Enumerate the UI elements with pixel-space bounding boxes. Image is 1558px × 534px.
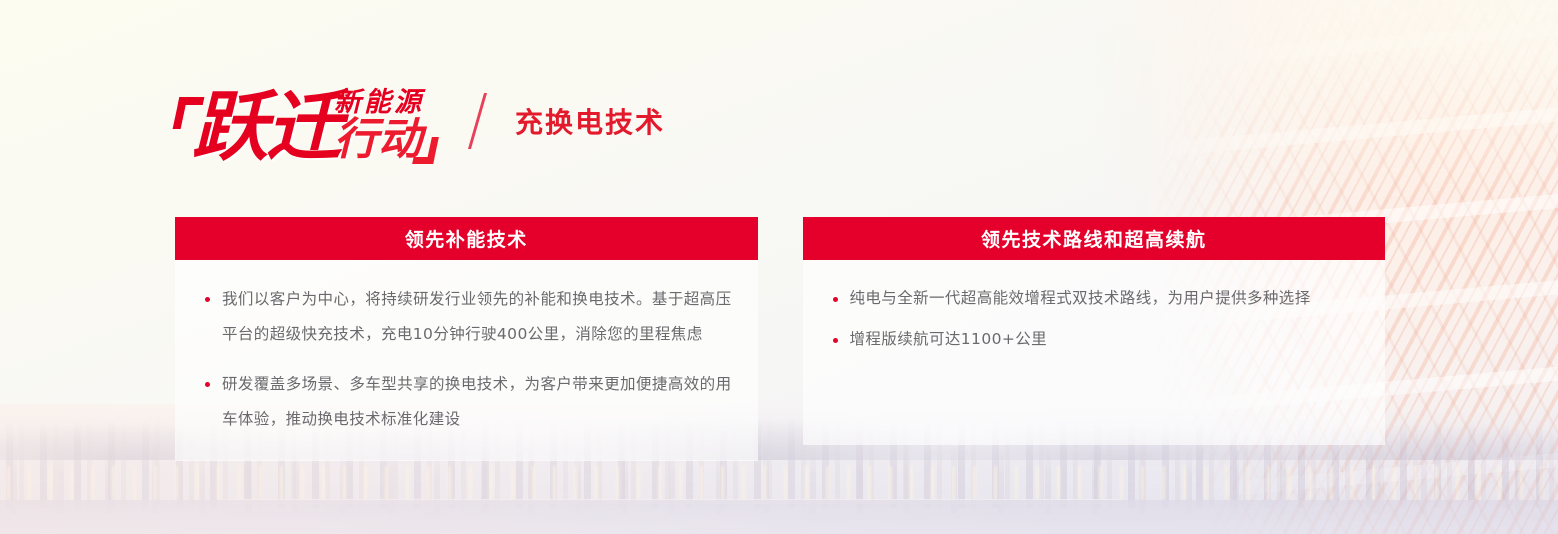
logo-sub-group: 新能源 行动 <box>334 89 424 162</box>
logo-main-text: 跃迁 <box>176 91 340 164</box>
logo-sub-top-label: 新能源 <box>334 89 424 116</box>
corner-bracket-close-icon <box>412 137 439 164</box>
logo-sub-bottom-label: 行动 <box>334 118 424 162</box>
tower-top-fade <box>1158 0 1558 200</box>
list-item: 纯电与全新一代超高能效增程式双技术路线，为用户提供多种选择 <box>829 282 1360 315</box>
bullet-list: 纯电与全新一代超高能效增程式双技术路线，为用户提供多种选择 增程版续航可达110… <box>829 282 1360 355</box>
card-leading-recharge-technology: 领先补能技术 我们以客户为中心，将持续研发行业领先的补能和换电技术。基于超高压平… <box>175 217 758 461</box>
brand-logo: 跃迁 新能源 行动 <box>176 78 424 164</box>
card-body: 我们以客户为中心，将持续研发行业领先的补能和换电技术。基于超高压平台的超级快充技… <box>175 260 758 461</box>
card-body: 纯电与全新一代超高能效增程式双技术路线，为用户提供多种选择 增程版续航可达110… <box>803 260 1386 445</box>
card-header-bar: 领先技术路线和超高续航 <box>803 217 1386 260</box>
list-item: 增程版续航可达1100+公里 <box>829 323 1360 356</box>
card-title: 领先补能技术 <box>405 225 528 252</box>
logo-main-label: 跃迁 <box>192 82 340 171</box>
banner-header: 跃迁 新能源 行动 充换电技术 <box>176 78 665 164</box>
card-leading-tech-route-and-range: 领先技术路线和超高续航 纯电与全新一代超高能效增程式双技术路线，为用户提供多种选… <box>803 217 1386 461</box>
page-title: 充换电技术 <box>515 101 665 141</box>
card-header-bar: 领先补能技术 <box>175 217 758 260</box>
slash-divider-icon <box>468 93 487 149</box>
cards-container: 领先补能技术 我们以客户为中心，将持续研发行业领先的补能和换电技术。基于超高压平… <box>175 217 1385 461</box>
banner-stage: 跃迁 新能源 行动 充换电技术 领先补能技术 我们以客户为中心，将持续研发行业领… <box>0 0 1558 534</box>
list-item: 我们以客户为中心，将持续研发行业领先的补能和换电技术。基于超高压平台的超级快充技… <box>201 282 732 353</box>
card-title: 领先技术路线和超高续航 <box>981 225 1207 252</box>
list-item: 研发覆盖多场景、多车型共享的换电技术，为客户带来更加便捷高效的用车体验，推动换电… <box>201 367 732 438</box>
bullet-list: 我们以客户为中心，将持续研发行业领先的补能和换电技术。基于超高压平台的超级快充技… <box>201 282 732 437</box>
